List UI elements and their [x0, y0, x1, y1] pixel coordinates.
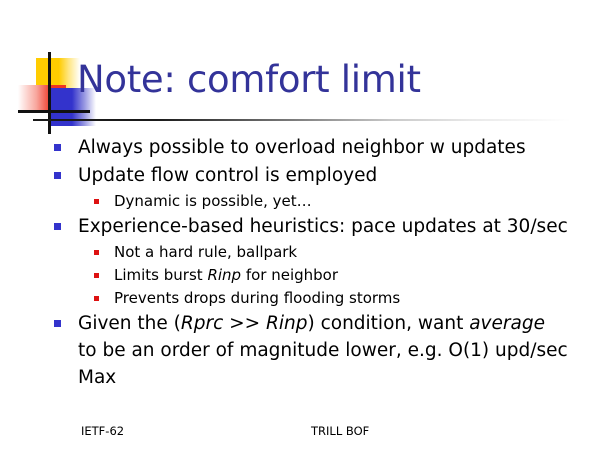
bullet-item-level1: Always possible to overload neighbor w u…: [48, 134, 568, 161]
logo-vertical-rule: [48, 52, 51, 134]
bullet-item-label: Update flow control is employed: [78, 165, 377, 186]
bullet-item-label: Not a hard rule, ballpark: [114, 243, 297, 261]
bullet-item-label: Experience-based heuristics: pace update…: [78, 216, 568, 237]
bullet-item-label: Always possible to overload neighbor w u…: [78, 137, 526, 158]
title-underline-rule: [33, 119, 593, 121]
page-title: Note: comfort limit: [77, 58, 421, 102]
slide-canvas: Note: comfort limit Always possible to o…: [0, 0, 600, 450]
bullet-item-label: Dynamic is possible, yet…: [114, 192, 312, 210]
bullet-item-level2: Dynamic is possible, yet…: [48, 190, 568, 213]
logo-horizontal-rule: [18, 110, 90, 113]
bullet-square-icon: [54, 144, 61, 151]
bullet-item-level1: Experience-based heuristics: pace update…: [48, 213, 568, 240]
bullet-square-icon: [94, 273, 99, 278]
bullet-square-icon: [94, 199, 99, 204]
bullet-square-icon: [54, 172, 61, 179]
bullet-item-level2: Not a hard rule, ballpark: [48, 241, 568, 264]
bullet-list: Always possible to overload neighbor w u…: [48, 134, 568, 392]
bullet-item-level2: Limits burst Rinp for neighbor: [48, 264, 568, 287]
footer-center-text: TRILL BOF: [311, 424, 369, 438]
bullet-item-level2: Prevents drops during flooding storms: [48, 287, 568, 310]
bullet-square-icon: [54, 223, 61, 230]
footer-left-text: IETF-62: [81, 424, 124, 438]
slide-footer: IETF-62 TRILL BOF: [0, 424, 600, 440]
bullet-square-icon: [54, 320, 61, 327]
bullet-square-icon: [94, 250, 99, 255]
bullet-square-icon: [94, 296, 99, 301]
bullet-item-label: Prevents drops during flooding storms: [114, 289, 400, 307]
bullet-item-label: Given the (Rprc >> Rinp) condition, want…: [78, 313, 568, 388]
bullet-item-level1: Given the (Rprc >> Rinp) condition, want…: [48, 310, 568, 391]
bullet-item-level1: Update flow control is employed: [48, 162, 568, 189]
bullet-item-label: Limits burst Rinp for neighbor: [114, 266, 338, 284]
